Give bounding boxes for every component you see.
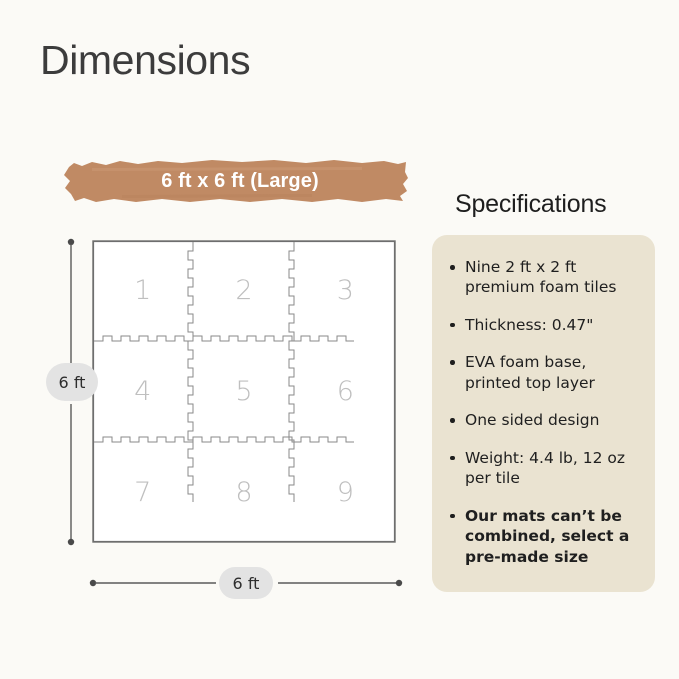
- tile-number: 3: [337, 277, 354, 304]
- specifications-heading: Specifications: [455, 190, 606, 219]
- specifications-card: Nine 2 ft x 2 ft premium foam tiles Thic…: [432, 235, 655, 592]
- tile-number: 9: [337, 479, 354, 506]
- height-dimension-label: 6 ft: [46, 363, 98, 401]
- width-dimension-label: 6 ft: [219, 567, 273, 599]
- tile-2: 2: [193, 240, 294, 341]
- height-dimension: 6 ft: [44, 236, 98, 548]
- size-banner: 6 ft x 6 ft (Large): [62, 154, 412, 208]
- tile-3: 3: [295, 240, 396, 341]
- spec-item-highlight: Our mats can’t be combined, select a pre…: [448, 506, 637, 567]
- tile-number: 5: [235, 378, 252, 405]
- tile-7: 7: [92, 442, 193, 543]
- spec-item: Weight: 4.4 lb, 12 oz per tile: [448, 448, 637, 489]
- tile-number: 8: [235, 479, 252, 506]
- tile-1: 1: [92, 240, 193, 341]
- spec-item: Thickness: 0.47": [448, 315, 637, 335]
- spec-item: Nine 2 ft x 2 ft premium foam tiles: [448, 257, 637, 298]
- tile-number: 7: [134, 479, 151, 506]
- tile-8: 8: [193, 442, 294, 543]
- tile-9: 9: [295, 442, 396, 543]
- page-title: Dimensions: [40, 38, 250, 83]
- spec-item: EVA foam base, printed top layer: [448, 352, 637, 393]
- specifications-list: Nine 2 ft x 2 ft premium foam tiles Thic…: [448, 257, 637, 567]
- tile-number: 4: [134, 378, 151, 405]
- tile-5: 5: [193, 341, 294, 442]
- tile-grid-diagram: 1 2 3 4 5 6 7 8 9: [92, 240, 396, 543]
- tile-6: 6: [295, 341, 396, 442]
- tile-number: 2: [235, 277, 252, 304]
- spec-item: One sided design: [448, 410, 637, 430]
- tile-4: 4: [92, 341, 193, 442]
- width-dimension: 6 ft: [88, 562, 404, 610]
- tile-number: 6: [337, 378, 354, 405]
- size-banner-label: 6 ft x 6 ft (Large): [62, 154, 412, 208]
- tile-number: 1: [134, 277, 151, 304]
